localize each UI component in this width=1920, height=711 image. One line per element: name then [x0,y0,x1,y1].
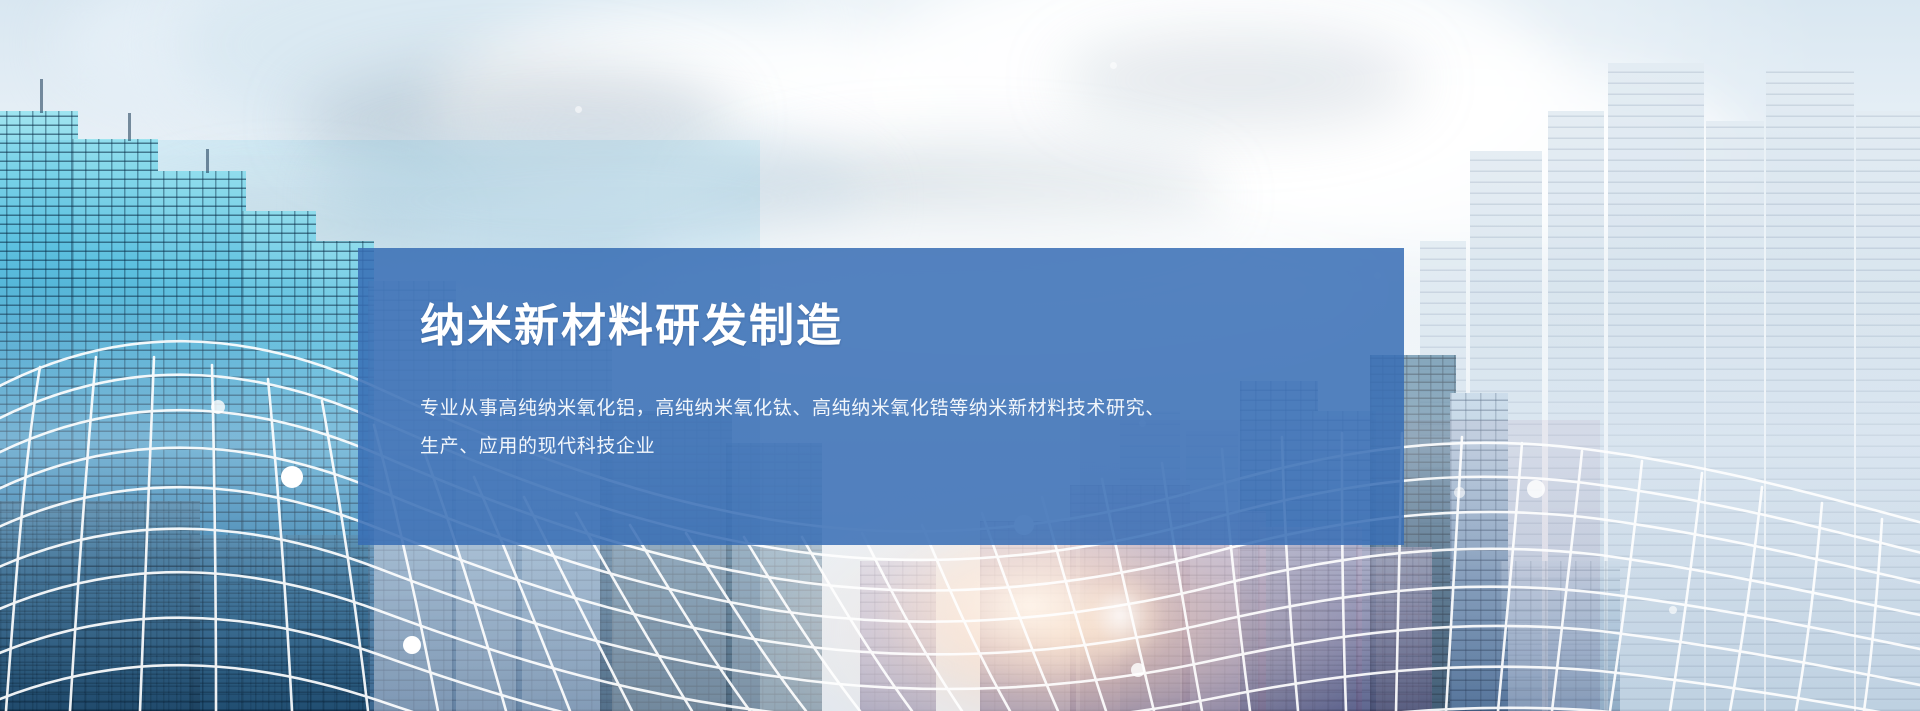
bokeh-dot [1669,606,1677,614]
bokeh-dot [1131,663,1145,677]
hero-subtitle: 专业从事高纯纳米氧化铝，高纯纳米氧化钛、高纯纳米氧化锆等纳米新材料技术研究、 生… [420,390,1344,466]
hero-subtitle-line-1: 专业从事高纯纳米氧化铝，高纯纳米氧化钛、高纯纳米氧化锆等纳米新材料技术研究、 [420,390,1344,428]
hero-subtitle-line-2: 生产、应用的现代科技企业 [420,428,1344,466]
bokeh-dot [1454,487,1465,498]
page-title: 纳米新材料研发制造 [420,300,1344,352]
hero-text-panel: 纳米新材料研发制造 专业从事高纯纳米氧化铝，高纯纳米氧化钛、高纯纳米氧化锆等纳米… [358,248,1404,545]
hero-banner: 纳米新材料研发制造 专业从事高纯纳米氧化铝，高纯纳米氧化钛、高纯纳米氧化锆等纳米… [0,0,1920,711]
bokeh-dot [575,106,582,113]
bokeh-dot [1527,480,1545,498]
bokeh-dot [1110,62,1117,69]
